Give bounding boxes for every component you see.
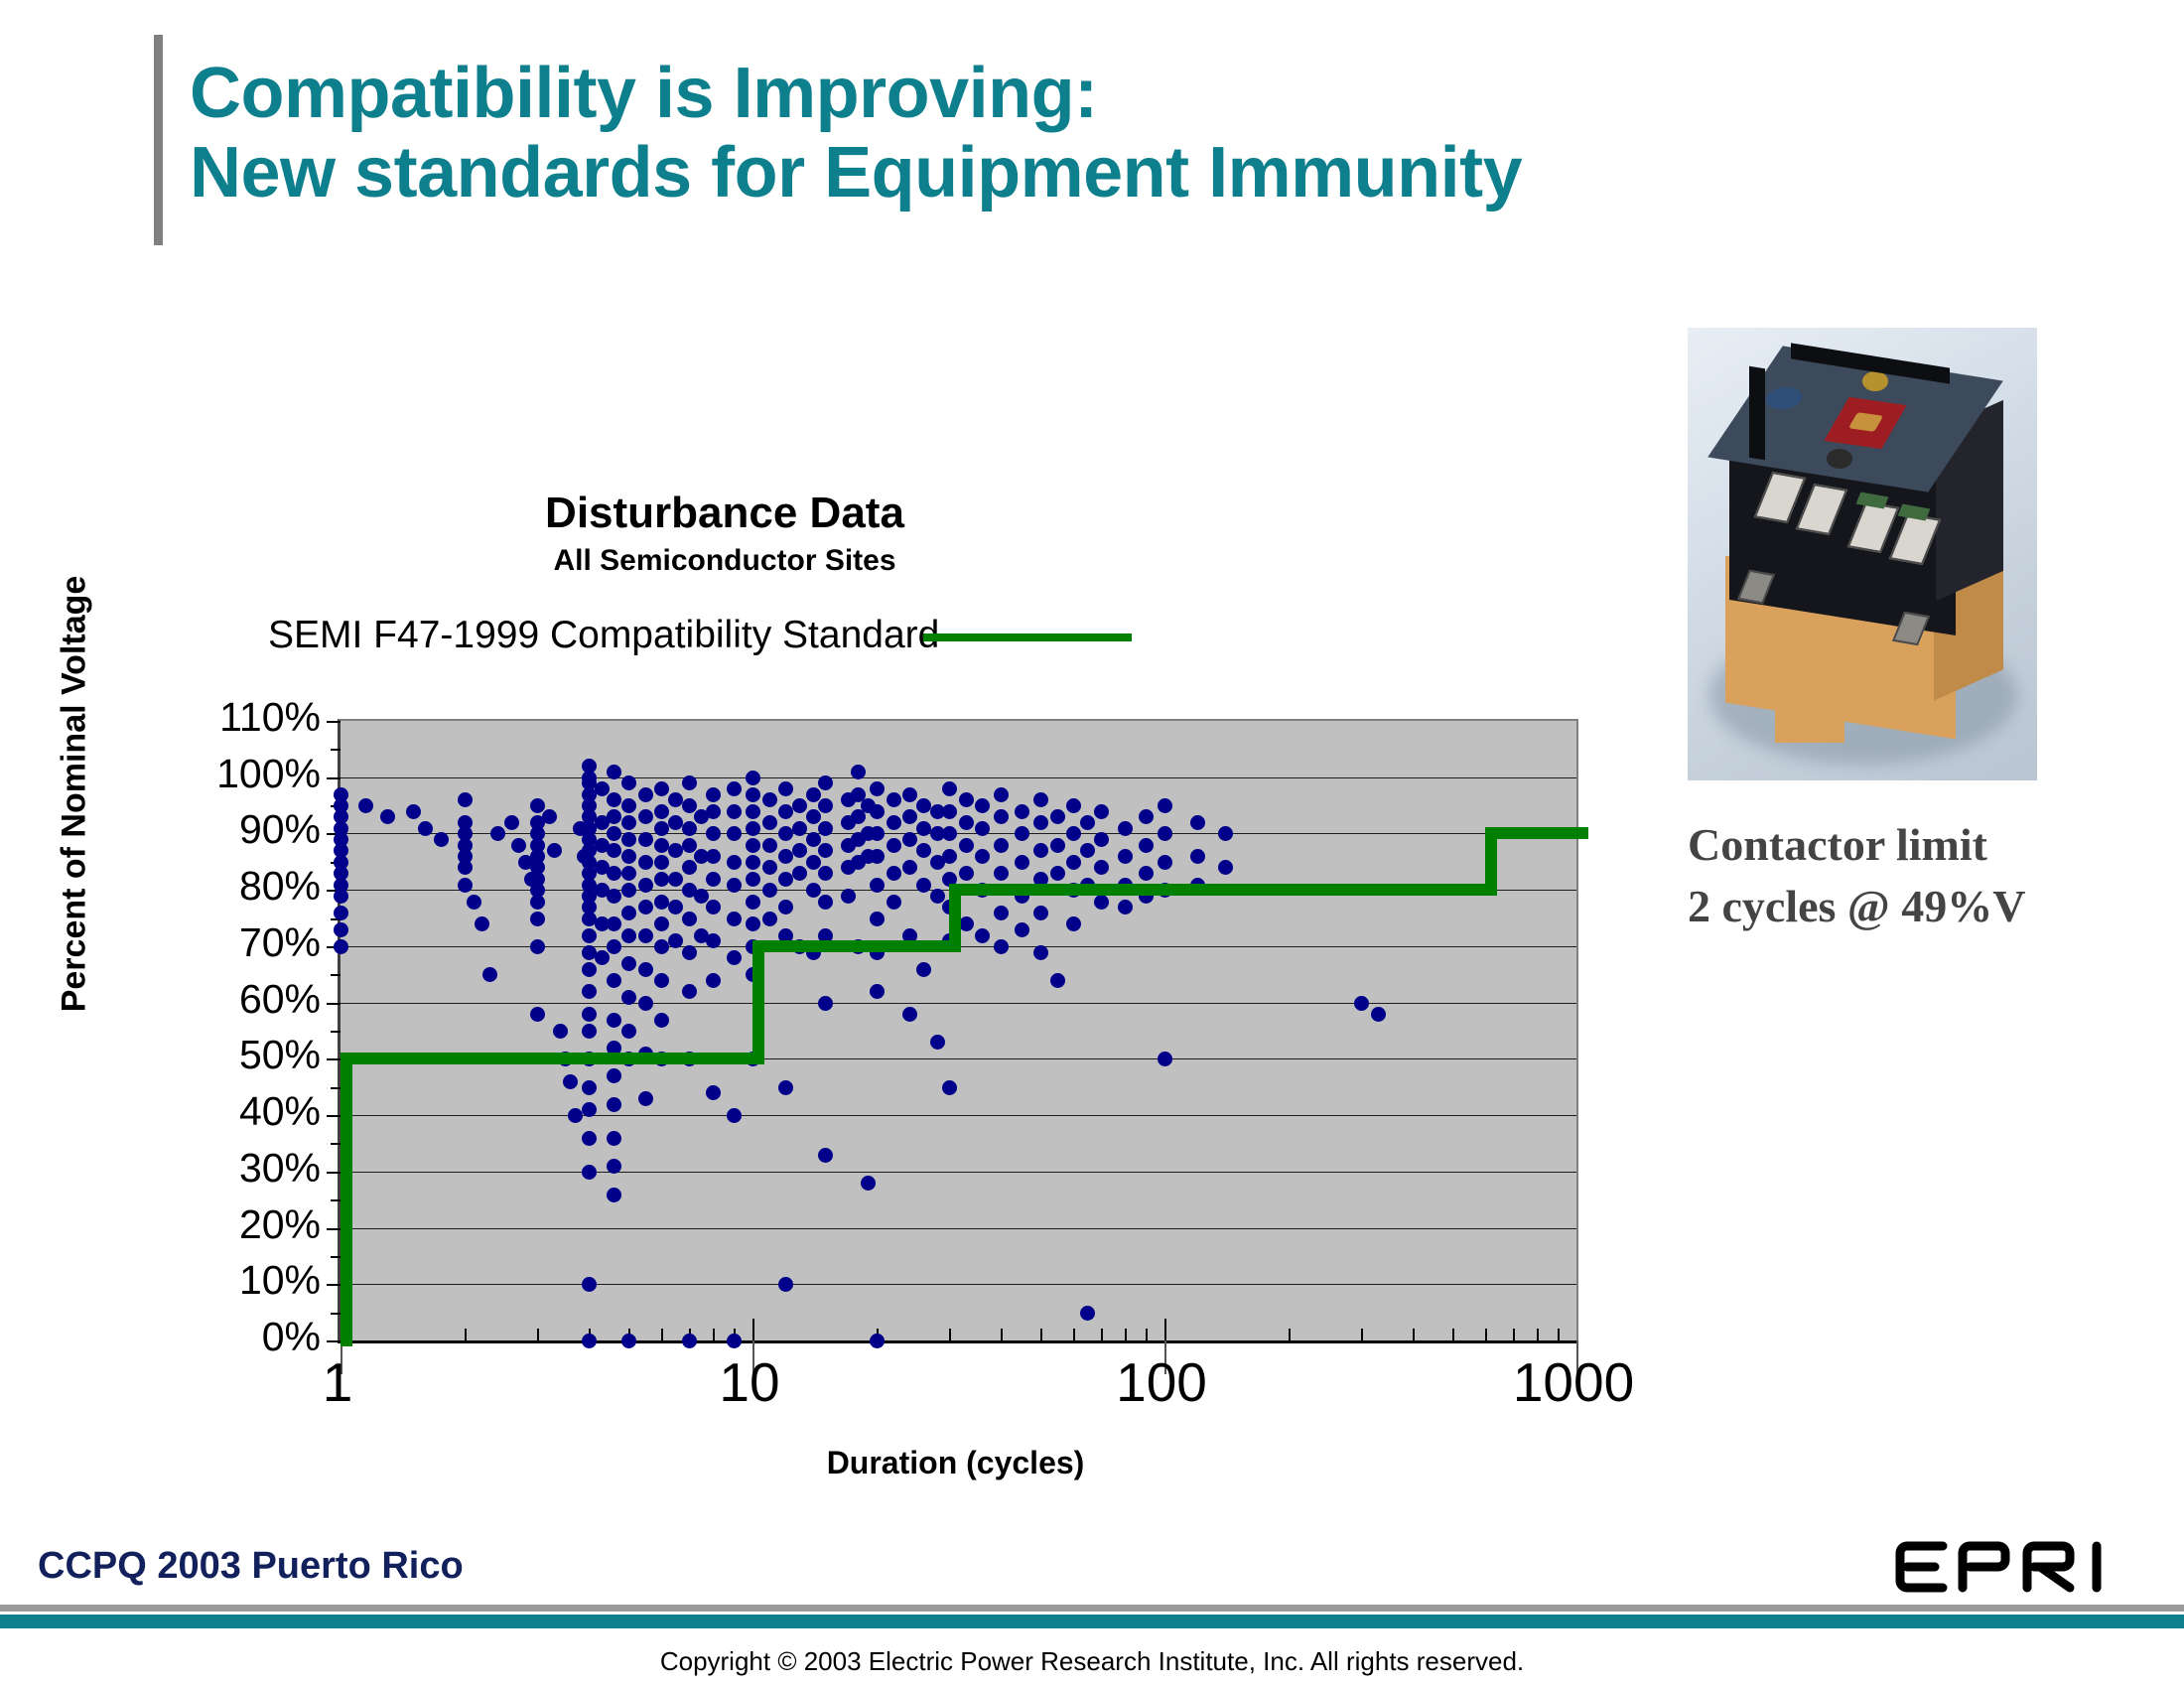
scatter-point <box>638 900 653 914</box>
scatter-point <box>1218 860 1233 875</box>
scatter-point <box>334 906 348 920</box>
y-axis-title: Percent of Nominal Voltage <box>56 516 94 1072</box>
scatter-point <box>607 1131 621 1146</box>
scatter-point <box>490 826 505 841</box>
scatter-point <box>902 787 917 802</box>
scatter-point <box>682 1334 697 1348</box>
y-tick-label-70: 70% <box>142 922 321 963</box>
scatter-point <box>607 1097 621 1112</box>
y-tick-label-40: 40% <box>142 1091 321 1132</box>
scatter-point <box>582 1277 597 1292</box>
scatter-point <box>638 1091 653 1106</box>
scatter-point <box>607 1013 621 1028</box>
scatter-point <box>778 781 793 796</box>
scatter-point <box>530 939 545 954</box>
scatter-point <box>1094 832 1109 847</box>
scatter-point <box>930 889 945 904</box>
epri-logo <box>1891 1537 2121 1597</box>
scatter-point <box>582 1024 597 1039</box>
scatter-point <box>682 860 697 875</box>
scatter-point <box>682 984 697 999</box>
scatter-point <box>1118 900 1133 914</box>
plot-area <box>338 719 1578 1343</box>
scatter-point <box>902 1007 917 1022</box>
x-minor-tick-60 <box>1073 1329 1075 1340</box>
scatter-point <box>668 872 683 887</box>
y-tick-label-30: 30% <box>142 1148 321 1189</box>
scatter-point <box>818 866 833 881</box>
scatter-point <box>746 855 760 870</box>
scatter-point <box>887 895 901 910</box>
scatter-point <box>727 1334 742 1348</box>
y-tick-100 <box>327 777 341 779</box>
scatter-point <box>1190 849 1205 864</box>
scatter-point <box>334 889 348 904</box>
gridline-y-100 <box>341 777 1576 778</box>
scatter-point <box>1066 855 1081 870</box>
scatter-point <box>887 815 901 830</box>
scatter-point <box>959 866 974 881</box>
scatter-point <box>458 860 473 875</box>
scatter-point <box>621 1024 636 1039</box>
x-minor-tick-700 <box>1513 1329 1515 1340</box>
scatter-point <box>762 912 777 926</box>
scatter-point <box>595 781 610 796</box>
scatter-point <box>458 792 473 807</box>
scatter-point <box>654 939 669 954</box>
scatter-point <box>380 809 395 824</box>
scatter-point <box>706 900 721 914</box>
scatter-point <box>1158 798 1172 813</box>
y-tick-110 <box>327 721 341 723</box>
scatter-point <box>762 883 777 898</box>
x-tick-label-10: 10 <box>650 1350 849 1414</box>
y-tick-label-110: 110% <box>142 697 321 738</box>
scatter-point <box>762 838 777 853</box>
y-tick-label-10: 10% <box>142 1260 321 1301</box>
scatter-point <box>792 866 807 881</box>
scatter-point <box>818 996 833 1011</box>
scatter-point <box>1139 838 1154 853</box>
scatter-point <box>482 967 497 982</box>
x-minor-tick-50 <box>1040 1329 1042 1340</box>
scatter-point <box>621 866 636 881</box>
footer-conference-label: CCPQ 2003 Puerto Rico <box>38 1545 464 1588</box>
scatter-point <box>511 838 526 853</box>
scatter-point <box>582 962 597 977</box>
scatter-point <box>1033 906 1048 920</box>
scatter-point <box>682 798 697 813</box>
scatter-point <box>818 775 833 790</box>
scatter-point <box>638 928 653 943</box>
y-minor-tick-55 <box>331 1031 341 1033</box>
scatter-point <box>1015 922 1029 937</box>
x-minor-tick-6 <box>661 1329 663 1340</box>
scatter-point <box>434 832 449 847</box>
scatter-point <box>870 984 885 999</box>
scatter-point <box>1190 815 1205 830</box>
scatter-point <box>916 962 931 977</box>
scatter-point <box>1066 798 1081 813</box>
scatter-point <box>1015 855 1029 870</box>
y-tick-10 <box>327 1284 341 1286</box>
scatter-point <box>706 973 721 988</box>
scatter-point <box>902 809 917 824</box>
scatter-point <box>870 1334 885 1348</box>
scatter-point <box>607 826 621 841</box>
scatter-point <box>818 821 833 836</box>
scatter-point <box>887 838 901 853</box>
scatter-point <box>1080 1306 1095 1321</box>
y-tick-30 <box>327 1172 341 1174</box>
scatter-point <box>727 855 742 870</box>
scatter-point <box>806 832 821 847</box>
scatter-point <box>682 821 697 836</box>
disturbance-data-chart: Disturbance Data All Semiconductor Sites… <box>0 477 1628 1549</box>
scatter-point <box>621 990 636 1005</box>
scatter-point <box>818 798 833 813</box>
scatter-point <box>418 821 433 836</box>
y-tick-label-60: 60% <box>142 979 321 1020</box>
gridline-y-10 <box>341 1284 1576 1285</box>
contactor-photo <box>1688 328 2037 780</box>
scatter-point <box>358 798 373 813</box>
scatter-point <box>778 849 793 864</box>
semi-f47-segment-h <box>949 884 1497 896</box>
y-tick-50 <box>327 1058 341 1060</box>
scatter-point <box>1015 826 1029 841</box>
scatter-point <box>994 866 1009 881</box>
scatter-point <box>334 939 348 954</box>
gridline-y-0 <box>341 1340 1576 1341</box>
scatter-point <box>607 889 621 904</box>
scatter-point <box>706 872 721 887</box>
scatter-point <box>1050 973 1065 988</box>
y-tick-label-50: 50% <box>142 1035 321 1075</box>
scatter-point <box>762 792 777 807</box>
contactor-screw-top <box>1862 371 1888 391</box>
scatter-point <box>887 866 901 881</box>
scatter-point <box>654 781 669 796</box>
scatter-point <box>841 889 856 904</box>
scatter-point <box>582 984 597 999</box>
x-minor-tick-90 <box>1146 1329 1148 1340</box>
x-minor-tick-30 <box>949 1329 951 1340</box>
gridline-y-40 <box>341 1115 1576 1116</box>
gridline-y-60 <box>341 1003 1576 1004</box>
scatter-point <box>887 792 901 807</box>
scatter-point <box>682 945 697 960</box>
scatter-point <box>916 843 931 858</box>
scatter-point <box>638 962 653 977</box>
scatter-point <box>818 1148 833 1163</box>
scatter-point <box>607 866 621 881</box>
scatter-point <box>975 821 990 836</box>
scatter-point <box>1033 843 1048 858</box>
scatter-point <box>1050 809 1065 824</box>
scatter-point <box>654 821 669 836</box>
scatter-point <box>1066 916 1081 931</box>
semi-f47-segment-v <box>1485 833 1497 896</box>
scatter-point <box>706 849 721 864</box>
scatter-point <box>621 849 636 864</box>
scatter-point <box>654 1013 669 1028</box>
x-minor-tick-40 <box>1001 1329 1003 1340</box>
x-minor-tick-80 <box>1125 1329 1127 1340</box>
scatter-point <box>959 838 974 853</box>
scatter-point <box>762 860 777 875</box>
scatter-point <box>806 883 821 898</box>
scatter-point <box>975 928 990 943</box>
scatter-point <box>582 928 597 943</box>
semi-f47-segment-h <box>752 940 961 952</box>
scatter-point <box>475 916 489 931</box>
x-tick-label-1000: 1000 <box>1474 1350 1673 1414</box>
x-minor-tick-300 <box>1361 1329 1363 1340</box>
scatter-point <box>582 1165 597 1180</box>
scatter-point <box>582 1080 597 1095</box>
chart-subtitle: All Semiconductor Sites <box>338 544 1112 578</box>
scatter-point <box>778 826 793 841</box>
footer-rule-gray <box>0 1605 2184 1612</box>
y-tick-label-80: 80% <box>142 866 321 907</box>
scatter-point <box>530 912 545 926</box>
scatter-point <box>334 922 348 937</box>
scatter-point <box>778 872 793 887</box>
scatter-point <box>942 804 957 819</box>
scatter-point <box>654 804 669 819</box>
x-minor-tick-800 <box>1537 1329 1539 1340</box>
scatter-point <box>994 906 1009 920</box>
x-minor-tick-3 <box>537 1329 539 1340</box>
y-minor-tick-105 <box>331 749 341 751</box>
scatter-point <box>746 838 760 853</box>
scatter-point <box>682 912 697 926</box>
scatter-point <box>942 1080 957 1095</box>
y-minor-tick-5 <box>331 1313 341 1315</box>
scatter-point <box>607 843 621 858</box>
y-minor-tick-25 <box>331 1199 341 1201</box>
chart-legend: SEMI F47-1999 Compatibility Standard <box>268 614 1360 663</box>
scatter-point <box>654 895 669 910</box>
scatter-point <box>727 1108 742 1123</box>
scatter-point <box>806 855 821 870</box>
scatter-point <box>870 826 885 841</box>
gridline-y-20 <box>341 1228 1576 1229</box>
contactor-left-rail <box>1749 366 1765 461</box>
scatter-point <box>778 900 793 914</box>
scatter-point <box>959 916 974 931</box>
scatter-point <box>1354 996 1369 1011</box>
contactor-screw-mid <box>1827 449 1852 469</box>
scatter-point <box>547 843 562 858</box>
scatter-point <box>654 973 669 988</box>
scatter-point <box>1158 855 1172 870</box>
scatter-point <box>530 895 545 910</box>
scatter-point <box>727 912 742 926</box>
scatter-point <box>1066 826 1081 841</box>
scatter-point <box>654 872 669 887</box>
title-accent-bar <box>154 35 163 245</box>
scatter-point <box>1371 1007 1386 1022</box>
scatter-point <box>406 804 421 819</box>
semi-f47-segment-h <box>1485 827 1588 839</box>
scatter-point <box>638 787 653 802</box>
scatter-point <box>638 996 653 1011</box>
scatter-point <box>727 781 742 796</box>
scatter-point <box>916 878 931 893</box>
scatter-point <box>706 826 721 841</box>
y-axis-tick-labels: 0%10%20%30%40%50%60%70%80%90%100%110% <box>137 719 321 1338</box>
scatter-point <box>942 781 957 796</box>
scatter-point <box>621 815 636 830</box>
semi-f47-segment-h <box>341 1053 764 1064</box>
scatter-point <box>638 878 653 893</box>
scatter-point <box>1080 815 1095 830</box>
x-minor-tick-70 <box>1101 1329 1103 1340</box>
slide-title-block: Compatibility is Improving: New standard… <box>154 55 2040 213</box>
scatter-point <box>1033 945 1048 960</box>
scatter-point <box>654 838 669 853</box>
scatter-point <box>994 787 1009 802</box>
scatter-point <box>746 916 760 931</box>
scatter-point <box>1094 895 1109 910</box>
scatter-point <box>682 838 697 853</box>
scatter-point <box>942 826 957 841</box>
scatter-point <box>638 809 653 824</box>
scatter-point <box>861 1176 876 1191</box>
semi-f47-segment-v <box>752 946 764 1064</box>
scatter-point <box>916 798 931 813</box>
scatter-point <box>607 916 621 931</box>
gridline-y-90 <box>341 833 1576 834</box>
scatter-point <box>1094 860 1109 875</box>
scatter-point <box>1218 826 1233 841</box>
y-minor-tick-65 <box>331 974 341 976</box>
y-tick-40 <box>327 1115 341 1117</box>
scatter-point <box>595 950 610 965</box>
scatter-point <box>582 1007 597 1022</box>
x-minor-tick-2 <box>465 1329 467 1340</box>
scatter-point <box>778 1277 793 1292</box>
scatter-point <box>1139 866 1154 881</box>
scatter-point <box>870 912 885 926</box>
x-minor-tick-100 <box>1164 1319 1166 1340</box>
scatter-point <box>1139 809 1154 824</box>
scatter-point <box>706 1085 721 1100</box>
scatter-point <box>746 804 760 819</box>
scatter-point <box>870 781 885 796</box>
scatter-point <box>621 956 636 971</box>
gridline-y-30 <box>341 1172 1576 1173</box>
scatter-point <box>746 895 760 910</box>
scatter-point <box>607 1068 621 1083</box>
scatter-point <box>582 1131 597 1146</box>
scatter-point <box>806 787 821 802</box>
scatter-point <box>975 798 990 813</box>
scatter-point <box>1015 804 1029 819</box>
y-tick-label-100: 100% <box>142 754 321 794</box>
y-tick-20 <box>327 1228 341 1230</box>
scatter-point <box>1033 792 1048 807</box>
y-minor-tick-15 <box>331 1256 341 1258</box>
x-minor-tick-400 <box>1413 1329 1415 1340</box>
scatter-point <box>916 821 931 836</box>
footer-rule-teal <box>0 1615 2184 1628</box>
scatter-point <box>792 821 807 836</box>
scatter-point <box>727 826 742 841</box>
scatter-point <box>959 815 974 830</box>
scatter-point <box>706 787 721 802</box>
y-tick-60 <box>327 1003 341 1005</box>
scatter-point <box>975 849 990 864</box>
scatter-point <box>959 792 974 807</box>
scatter-point <box>621 775 636 790</box>
scatter-point <box>1118 849 1133 864</box>
x-minor-tick-600 <box>1485 1329 1487 1340</box>
scatter-point <box>792 843 807 858</box>
scatter-point <box>727 878 742 893</box>
x-minor-tick-200 <box>1289 1329 1291 1340</box>
scatter-point <box>1080 843 1095 858</box>
scatter-point <box>706 933 721 948</box>
scatter-point <box>607 973 621 988</box>
scatter-point <box>621 883 636 898</box>
semi-f47-segment-v <box>341 1058 352 1346</box>
scatter-point <box>530 1007 545 1022</box>
scatter-point <box>542 809 557 824</box>
scatter-point <box>682 775 697 790</box>
x-tick-label-1: 1 <box>238 1350 437 1414</box>
scatter-point <box>727 804 742 819</box>
scatter-point <box>654 855 669 870</box>
contactor-foot <box>1775 705 1844 743</box>
scatter-point <box>458 878 473 893</box>
scatter-point <box>467 895 481 910</box>
scatter-point <box>1158 826 1172 841</box>
scatter-point <box>746 787 760 802</box>
scatter-point <box>568 1108 583 1123</box>
scatter-point <box>942 849 957 864</box>
x-minor-tick-10 <box>752 1319 754 1340</box>
scatter-point <box>792 798 807 813</box>
scatter-point <box>851 765 866 779</box>
scatter-point <box>563 1074 578 1089</box>
scatter-point <box>994 939 1009 954</box>
scatter-point <box>607 765 621 779</box>
x-minor-tick-8 <box>713 1329 715 1340</box>
scatter-point <box>762 815 777 830</box>
y-tick-label-20: 20% <box>142 1204 321 1245</box>
scatter-point <box>994 809 1009 824</box>
scatter-point <box>902 832 917 847</box>
scatter-point <box>994 838 1009 853</box>
scatter-point <box>870 849 885 864</box>
scatter-point <box>621 1334 636 1348</box>
page-title: Compatibility is Improving: New standard… <box>190 55 2040 213</box>
scatter-point <box>818 843 833 858</box>
scatter-point <box>706 804 721 819</box>
scatter-point <box>746 821 760 836</box>
scatter-point <box>668 900 683 914</box>
scatter-point <box>654 916 669 931</box>
scatter-point <box>746 872 760 887</box>
scatter-point <box>1050 866 1065 881</box>
scatter-point <box>582 1334 597 1348</box>
scatter-point <box>621 798 636 813</box>
scatter-point <box>746 771 760 785</box>
scatter-point <box>806 809 821 824</box>
